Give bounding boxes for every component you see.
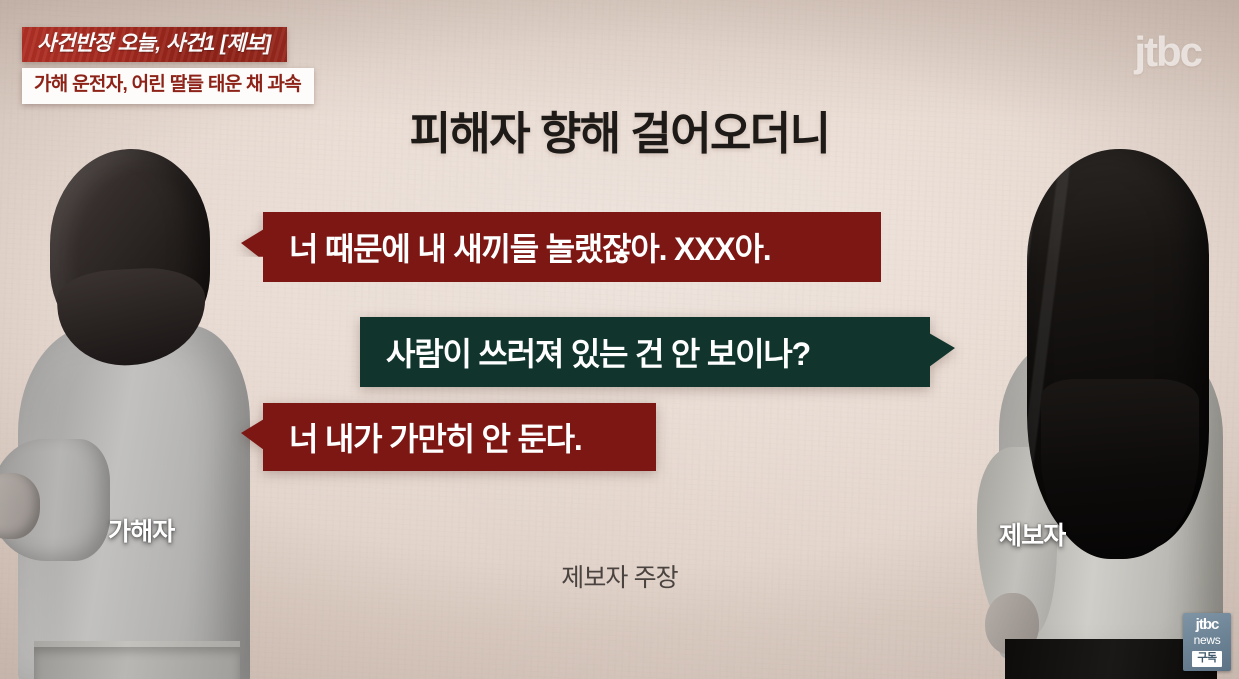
program-banner-title: 사건반장 오늘, 사건1 [제보] — [22, 27, 287, 62]
quote-bubble-3: 너 내가 가만히 안 둔다. — [263, 403, 656, 471]
headline: 피해자 향해 걸어오더니 — [0, 97, 1239, 162]
source-caption: 제보자 주장 — [0, 558, 1239, 594]
quote-bubble-1-tail-icon — [241, 229, 264, 261]
quote-bubble-2-text: 사람이 쓰러져 있는 건 안 보이나? — [386, 329, 810, 375]
quote-bubble-3-text: 너 내가 가만히 안 둔다. — [289, 414, 582, 460]
quote-bubble-1-text: 너 때문에 내 새끼들 놀랬잖아. XXX아. — [289, 224, 770, 270]
subscribe-brand-label: jtbc — [1196, 617, 1219, 632]
subscribe-action-button[interactable]: 구독 — [1192, 651, 1221, 667]
quote-bubble-2: 사람이 쓰러져 있는 건 안 보이나? — [360, 317, 930, 387]
quote-bubble-3-tail-icon — [241, 419, 264, 450]
program-banner-group: 사건반장 오늘, 사건1 [제보] 가해 운전자, 어린 딸들 태운 채 과속 — [22, 27, 314, 104]
broadcast-graphic: 가해자 제보자 피해자 향해 걸어오더니 너 때문에 내 새끼들 놀랬잖아. X… — [0, 0, 1239, 679]
program-banner-subheadline: 가해 운전자, 어린 딸들 태운 채 과속 — [22, 68, 314, 103]
quote-bubble-2-tail-icon — [929, 333, 955, 367]
subscribe-section-label: news — [1194, 633, 1221, 647]
quote-bubble-1: 너 때문에 내 새끼들 놀랬잖아. XXX아. — [263, 212, 881, 282]
subscribe-badge[interactable]: jtbc news 구독 — [1183, 613, 1231, 671]
